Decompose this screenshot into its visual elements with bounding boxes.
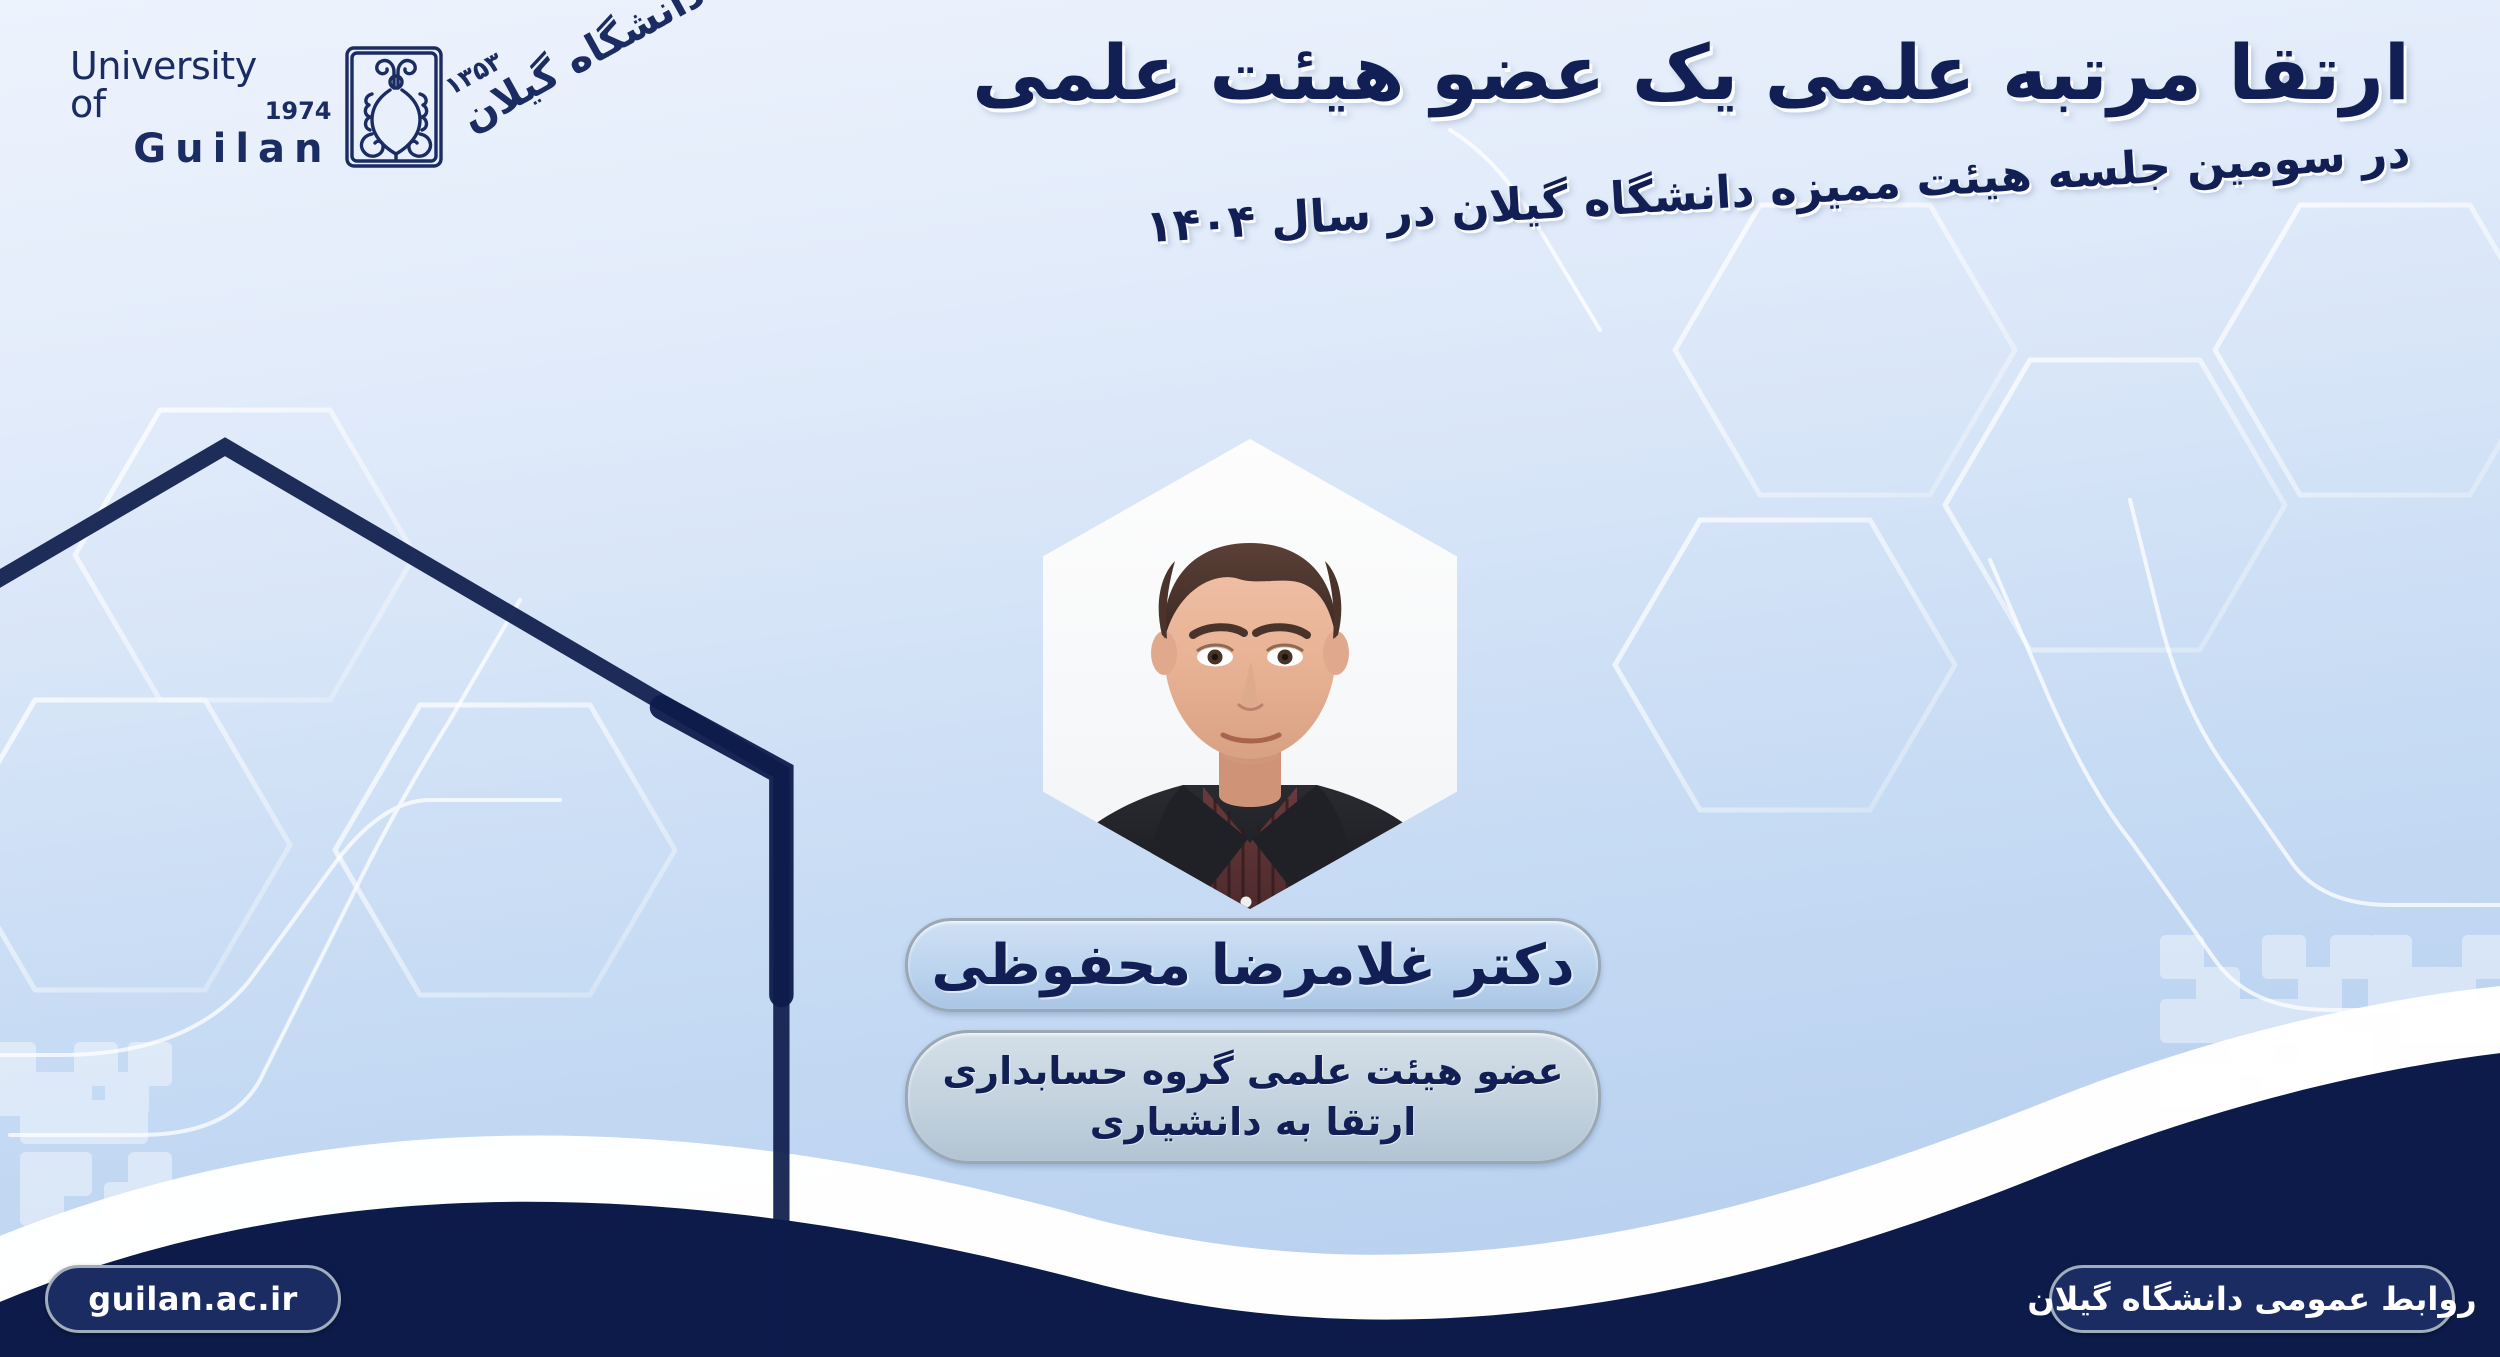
logo-year-1974: 1974 xyxy=(265,99,332,123)
website-badge[interactable]: guilan.ac.ir xyxy=(45,1265,341,1333)
person-name-badge: دکتر غلامرضا محفوظی xyxy=(905,918,1601,1012)
person-name: دکتر غلامرضا محفوظی xyxy=(931,933,1574,998)
page-title: ارتقا مرتبه علمی یک عضو هیئت علمی xyxy=(910,28,2410,118)
logo-english-text: University of 1974 Guilan xyxy=(70,47,332,169)
person-role-line2: ارتقا به دانشیاری xyxy=(1090,1098,1417,1147)
public-relations-badge: روابط عمومی دانشگاه گیلان xyxy=(2049,1265,2455,1333)
title-block: ارتقا مرتبه علمی یک عضو هیئت علمی در سوم… xyxy=(910,28,2410,180)
website-url: guilan.ac.ir xyxy=(88,1280,298,1318)
logo-guilan: Guilan xyxy=(133,129,331,169)
portrait-frame xyxy=(1025,425,1475,925)
person-role-line1: عضو هیئت علمی گروه حسابداری xyxy=(942,1047,1563,1096)
guilan-university-emblem-icon xyxy=(338,42,454,174)
logo-university-of: University of xyxy=(70,47,257,123)
person-role-badge: عضو هیئت علمی گروه حسابداری ارتقا به دان… xyxy=(905,1030,1601,1164)
public-relations-label: روابط عمومی دانشگاه گیلان xyxy=(2027,1280,2476,1318)
university-logo: University of 1974 Guilan xyxy=(70,38,540,178)
poster-canvas: University of 1974 Guilan xyxy=(0,0,2500,1357)
